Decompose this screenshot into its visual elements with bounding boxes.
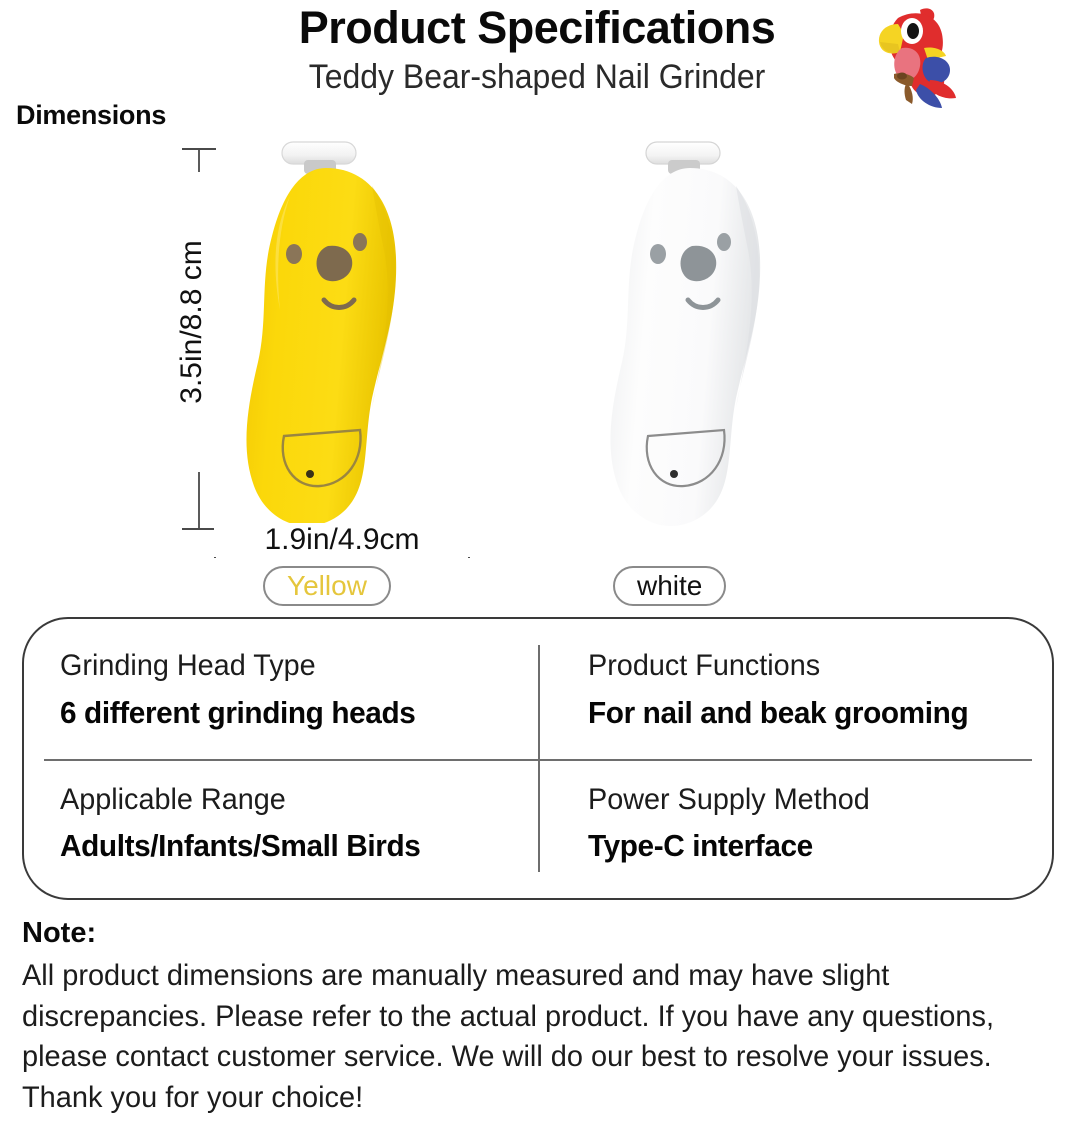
spec-key: Applicable Range <box>60 781 484 819</box>
spec-value: For nail and beak grooming <box>588 694 999 732</box>
note-title: Note: <box>22 917 1054 950</box>
spec-table-vertical-divider <box>538 645 540 872</box>
width-dimension-label: 1.9in/4.9cm <box>214 523 470 557</box>
height-dimension-cap-top <box>182 148 216 150</box>
bear-grinder-yellow-icon <box>232 140 412 540</box>
color-label-white[interactable]: white <box>613 566 726 606</box>
spec-cell-product-functions: Product Functions For nail and beak groo… <box>538 619 1052 759</box>
dimensions-section-label: Dimensions <box>16 100 166 131</box>
spec-key: Grinding Head Type <box>60 647 484 685</box>
spec-cell-power-supply-method: Power Supply Method Type-C interface <box>538 759 1052 899</box>
spec-cell-grinding-head-type: Grinding Head Type 6 different grinding … <box>24 619 538 759</box>
page-header: Product Specifications Teddy Bear-shaped… <box>0 0 1074 108</box>
spec-key: Product Functions <box>588 647 999 685</box>
spec-table: Grinding Head Type 6 different grinding … <box>22 617 1054 900</box>
note-body: All product dimensions are manually meas… <box>22 956 1048 1118</box>
spec-value: Type-C interface <box>588 827 999 865</box>
color-label-yellow[interactable]: Yellow <box>263 566 391 606</box>
parrot-icon <box>858 4 962 112</box>
spec-value: Adults/Infants/Small Birds <box>60 827 484 865</box>
bear-grinder-white-icon <box>596 140 776 540</box>
height-dimension-label: 3.5in/8.8 cm <box>173 172 211 472</box>
height-dimension-cap-bottom <box>182 528 216 530</box>
spec-value: 6 different grinding heads <box>60 694 484 732</box>
spec-cell-applicable-range: Applicable Range Adults/Infants/Small Bi… <box>24 759 538 899</box>
height-dimension-line: 3.5in/8.8 cm <box>176 148 228 530</box>
product-figure-area: 3.5in/8.8 cm <box>0 130 1074 610</box>
spec-key: Power Supply Method <box>588 781 999 819</box>
width-dimension-line: 1.9in/4.9cm <box>214 520 470 564</box>
note-section: Note: All product dimensions are manuall… <box>22 917 1054 1118</box>
